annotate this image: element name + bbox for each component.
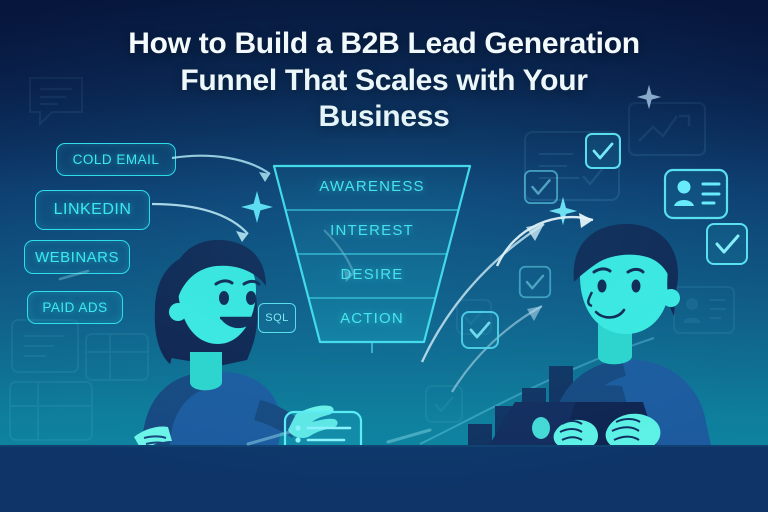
title-line-3: Business — [39, 99, 729, 136]
desk-edge-line — [0, 445, 768, 447]
channel-tag-label: PAID ADS — [42, 300, 107, 315]
title-line-1: How to Build a B2B Lead Generation — [39, 26, 729, 63]
check-box-icon[interactable] — [584, 132, 622, 170]
channel-tag-linkedin[interactable]: LINKEDIN — [35, 190, 150, 230]
funnel-stage-awareness: AWARENESS — [262, 178, 482, 195]
channel-tag-paid-ads[interactable]: PAID ADS — [27, 291, 123, 324]
channel-tag-cold-email[interactable]: COLD EMAIL — [56, 143, 176, 176]
channel-tag-label: COLD EMAIL — [73, 152, 160, 167]
check-box-icon[interactable] — [460, 310, 500, 350]
desk-surface — [0, 445, 768, 512]
list-card-icon — [10, 318, 80, 374]
channel-tag-label: LINKEDIN — [54, 201, 132, 219]
hero-illustration: How to Build a B2B Lead Generation Funne… — [0, 0, 768, 512]
page-title: How to Build a B2B Lead Generation Funne… — [39, 26, 729, 136]
grid-card-icon — [8, 380, 94, 442]
check-box-icon[interactable] — [523, 169, 559, 205]
sparkle-icon — [636, 84, 662, 110]
light-streak-icon — [58, 268, 98, 282]
contact-card-icon[interactable] — [663, 168, 729, 220]
light-streak-icon — [246, 430, 306, 448]
light-streak-icon — [386, 428, 446, 446]
channel-tag-label: WEBINARS — [35, 249, 119, 266]
title-line-2: Funnel That Scales with Your — [39, 63, 729, 100]
